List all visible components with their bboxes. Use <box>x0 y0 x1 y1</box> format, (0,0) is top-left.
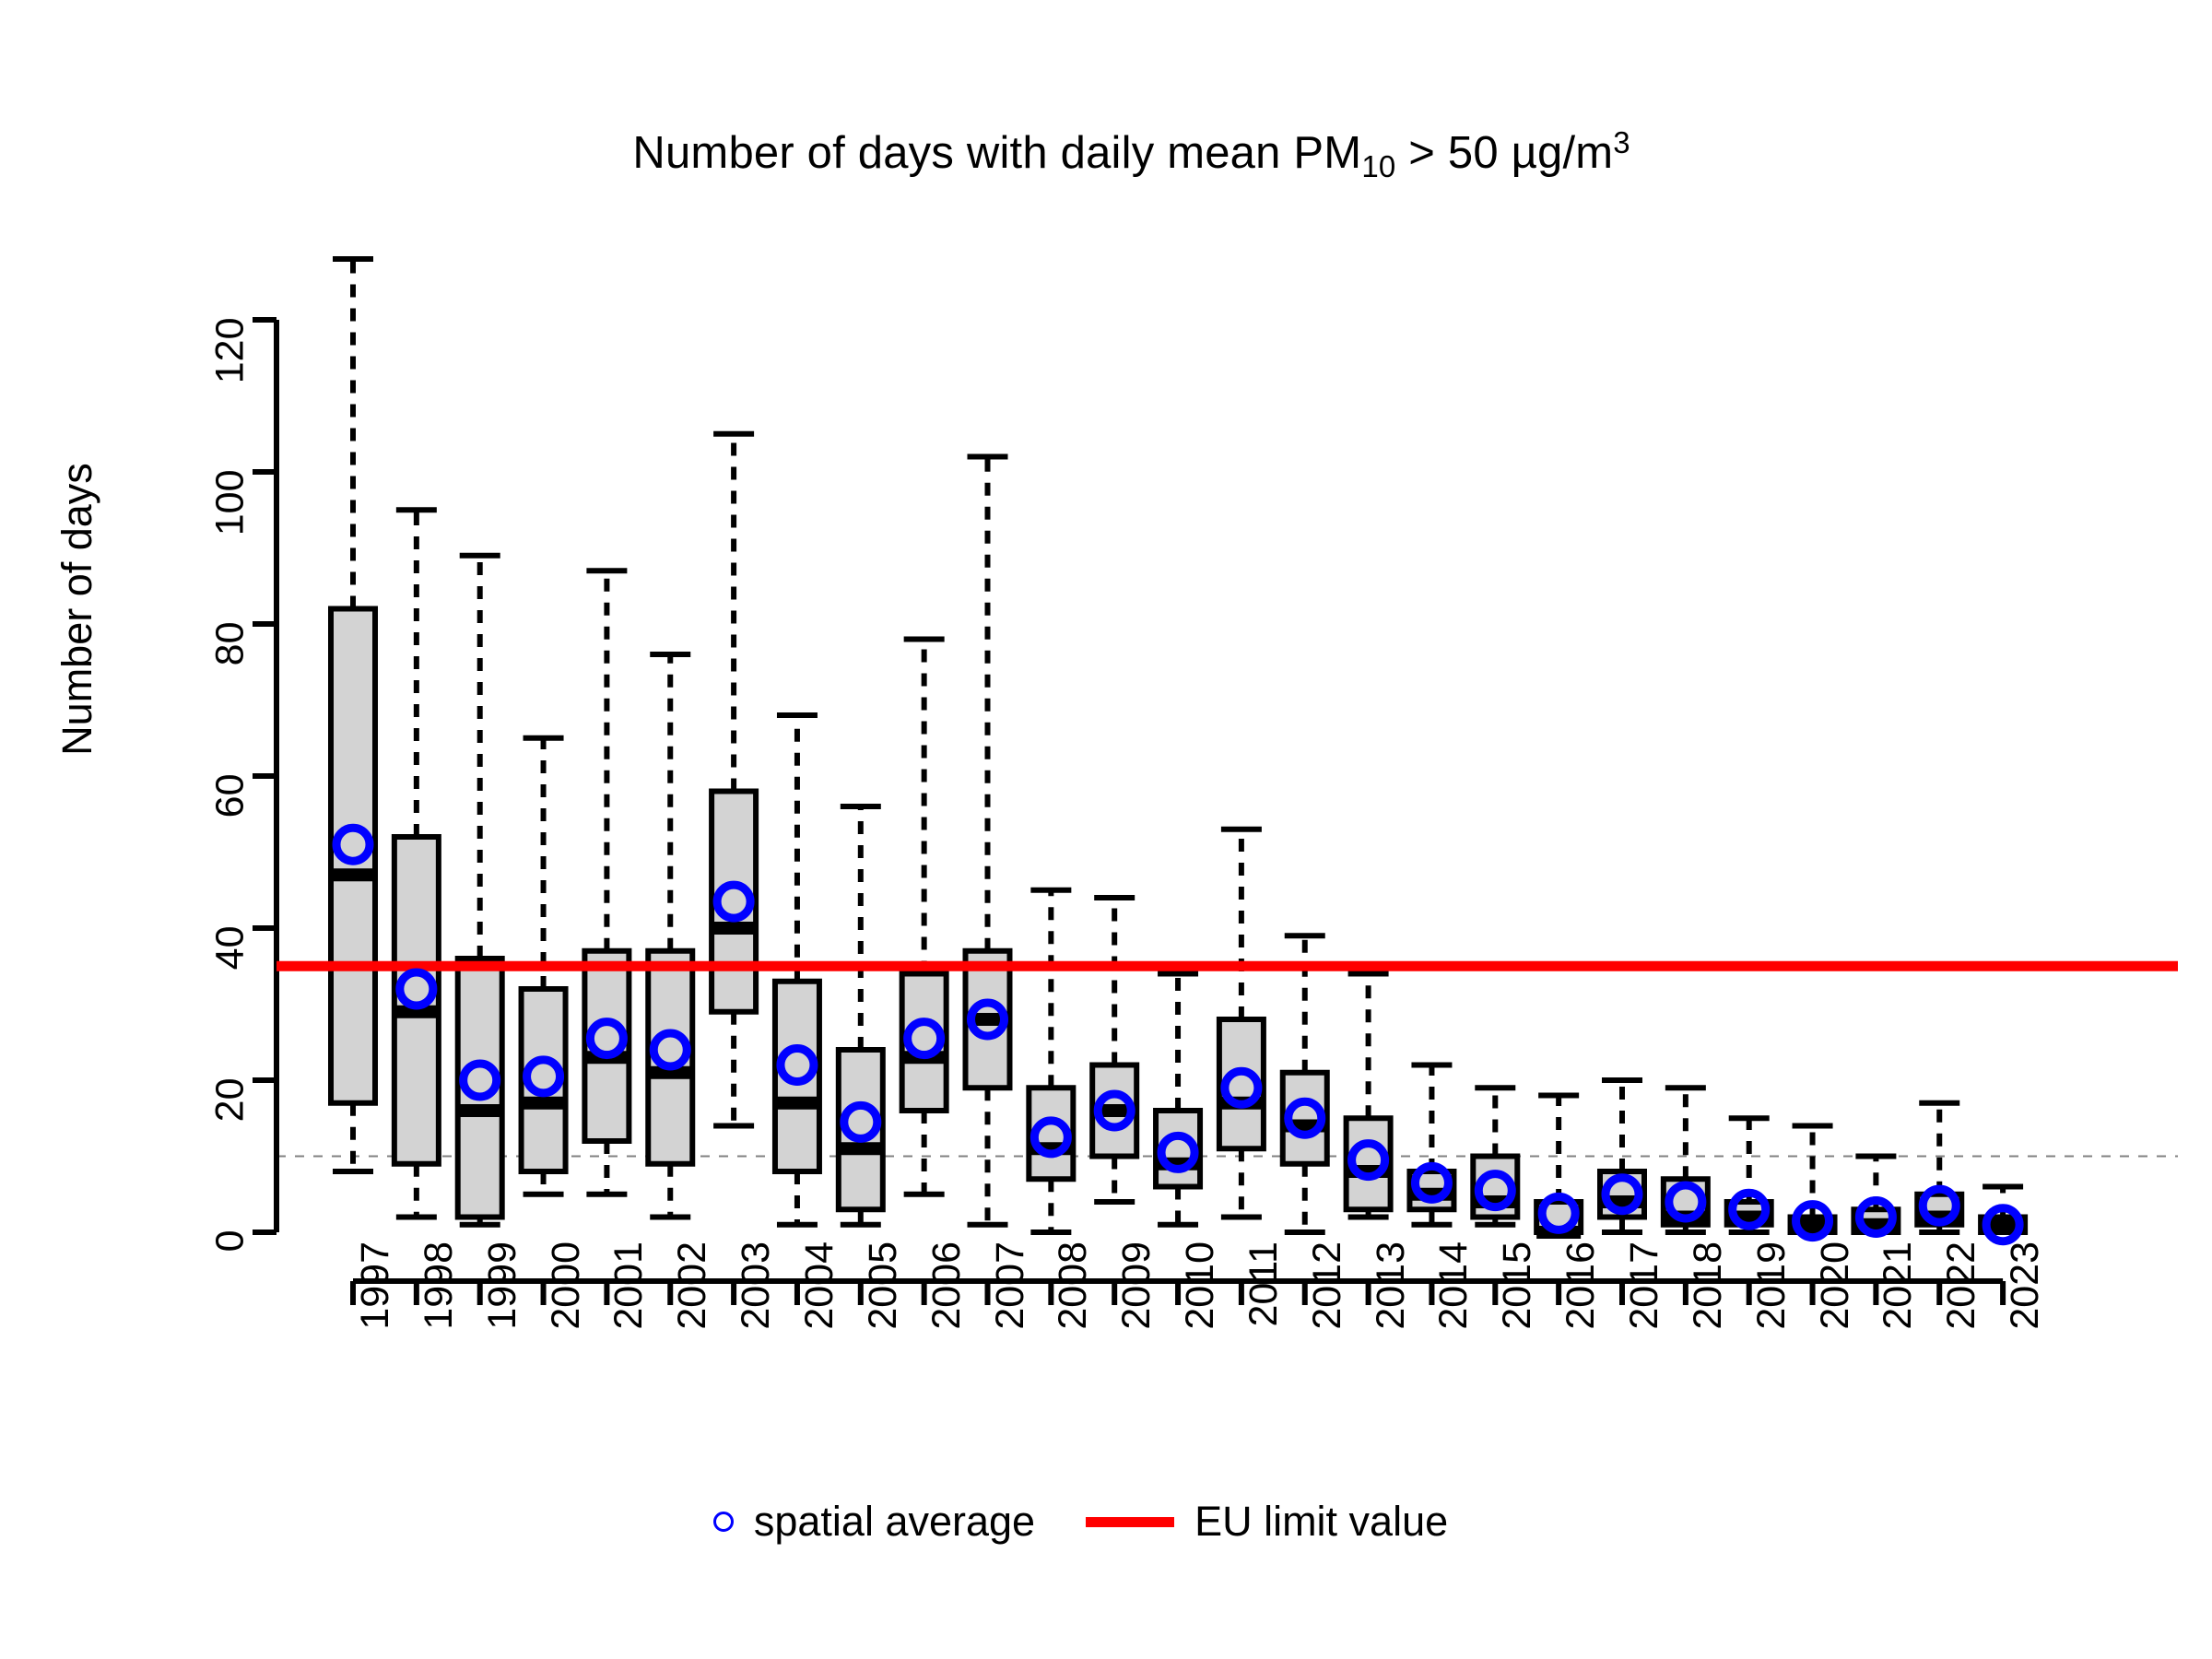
legend-item-eu-limit: EU limit value <box>1086 1498 1499 1546</box>
x-tick-label-2015: 2015 <box>1495 1241 1540 1417</box>
x-tick-label-2013: 2013 <box>1369 1241 1414 1417</box>
x-tick-label-1999: 1999 <box>480 1241 525 1417</box>
legend-item-spatial-average: spatial average <box>713 1498 1086 1546</box>
x-tick-label-2005: 2005 <box>861 1241 906 1417</box>
x-tick-label-2022: 2022 <box>1939 1241 1984 1417</box>
x-tick-label-2020: 2020 <box>1813 1241 1858 1417</box>
x-tick-label-2002: 2002 <box>670 1241 715 1417</box>
boxplot-figure: Number of days with daily mean PM10 > 50… <box>0 0 2212 1659</box>
legend-label-spatial-average: spatial average <box>754 1498 1035 1546</box>
x-tick-label-2003: 2003 <box>734 1241 779 1417</box>
boxplot-2005 <box>839 806 883 1225</box>
x-tick-label-2007: 2007 <box>988 1241 1033 1417</box>
x-tick-label-2014: 2014 <box>1431 1241 1477 1417</box>
chart-legend: spatial average EU limit value <box>0 1498 2212 1546</box>
x-tick-label-2001: 2001 <box>606 1241 652 1417</box>
x-tick-label-2011: 2011 <box>1241 1241 1287 1417</box>
x-tick-label-2008: 2008 <box>1051 1241 1096 1417</box>
x-tick-label-2000: 2000 <box>544 1241 589 1417</box>
boxplot-2011 <box>1219 829 1264 1218</box>
x-tick-label-2010: 2010 <box>1178 1241 1223 1417</box>
x-tick-label-2019: 2019 <box>1749 1241 1794 1417</box>
x-tick-label-2012: 2012 <box>1305 1241 1350 1417</box>
boxplot-1997 <box>331 259 375 1171</box>
x-tick-label-2009: 2009 <box>1114 1241 1159 1417</box>
boxplot-2003 <box>712 434 756 1126</box>
x-tick-label-2016: 2016 <box>1559 1241 1604 1417</box>
x-tick-label-2004: 2004 <box>797 1241 842 1417</box>
circle-marker-icon <box>713 1512 734 1532</box>
x-tick-label-2018: 2018 <box>1686 1241 1731 1417</box>
boxplot-2009 <box>1092 898 1136 1202</box>
x-tick-label-2006: 2006 <box>924 1241 970 1417</box>
boxplot-2010 <box>1156 974 1200 1225</box>
boxplot-2001 <box>584 571 629 1194</box>
legend-label-eu-limit: EU limit value <box>1194 1498 1448 1546</box>
boxplot-1999 <box>458 556 502 1225</box>
boxplot-2006 <box>902 640 947 1194</box>
plot-area: 020406080100120 199719981999200020012002… <box>0 0 2212 1659</box>
x-tick-label-1998: 1998 <box>417 1241 462 1417</box>
boxplot-2008 <box>1029 890 1073 1232</box>
boxplot-2007 <box>966 457 1010 1225</box>
y-tick-label-120: 120 <box>208 318 253 502</box>
x-tick-label-1997: 1997 <box>353 1241 398 1417</box>
x-tick-label-2021: 2021 <box>1876 1241 1921 1417</box>
line-marker-icon <box>1086 1517 1174 1527</box>
x-tick-label-2023: 2023 <box>2003 1241 2048 1417</box>
boxplot-2012 <box>1283 935 1327 1232</box>
boxplot-1998 <box>394 510 439 1217</box>
x-tick-label-2017: 2017 <box>1622 1241 1667 1417</box>
boxplot-2002 <box>648 654 692 1218</box>
